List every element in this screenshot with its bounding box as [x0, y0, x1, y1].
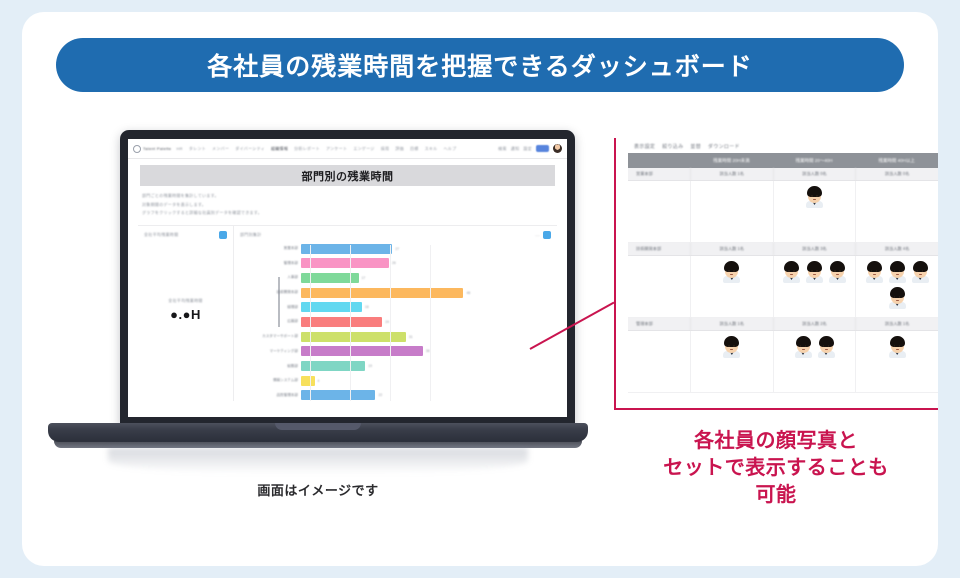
avatar-hair: [807, 186, 822, 197]
bar-category-label: 人事部: [246, 275, 298, 280]
bar-value-label: 18: [365, 305, 369, 309]
search-icon[interactable]: 検索: [498, 146, 507, 152]
detail-group-subheader: 営業本部該当人数 1名該当人数 0名該当人数 0名: [628, 168, 938, 181]
detail-groups: 営業本部該当人数 1名該当人数 0名該当人数 0名技術開発本部該当人数 1名該当…: [628, 168, 938, 393]
detail-group-subheader: 技術開発本部該当人数 1名該当人数 3名該当人数 4名: [628, 243, 938, 256]
group-label: 技術開発本部: [628, 243, 690, 255]
avatar-eye: [839, 270, 841, 272]
group-count-cell: 該当人数 0名: [855, 168, 938, 180]
avatar-mouth: [873, 274, 876, 275]
row-spacer-cell: [628, 331, 690, 392]
nav-item[interactable]: 分析レポート: [294, 146, 320, 152]
dashboard-title-bar: 部門別の残業時間: [140, 165, 555, 186]
metric-panel-title: 全社平均残業時間: [144, 232, 178, 238]
bar-category-label: 総務部: [246, 364, 298, 369]
bar-value-label: 22: [378, 393, 382, 397]
nav-item[interactable]: エンゲージ: [353, 146, 374, 152]
detail-table-row: [628, 181, 938, 243]
banner-title: 各社員の残業時間を把握できるダッシュボード: [207, 47, 753, 83]
row-spacer-cell: [628, 181, 690, 242]
bar-value-label: 24: [385, 320, 389, 324]
avatar-eye: [823, 345, 825, 347]
row-spacer-cell: [628, 256, 690, 317]
employee-avatar[interactable]: [817, 336, 836, 358]
laptop-lid: Talent Palette HR タレント メンバー ダイバーシティ 組織情報…: [120, 130, 575, 427]
metric-value: ●.●H: [138, 307, 233, 322]
employee-avatar[interactable]: [888, 287, 907, 309]
chart-menu-icon[interactable]: ···: [535, 233, 540, 238]
detail-panel: 表示設定 絞り込み 並替 ダウンロード 残業時間 20H未満 残業時間 20〜4…: [614, 138, 938, 410]
avatar-cell: [773, 331, 856, 392]
bar[interactable]: [301, 390, 375, 400]
nav-item-active[interactable]: 組織情報: [271, 146, 288, 152]
avatar-eye: [828, 345, 830, 347]
avatar-mouth: [896, 300, 899, 301]
bar-row: 広報部24: [246, 316, 551, 327]
avatar-hair: [819, 336, 834, 347]
right-caption: 各社員の顔写真と セットで表示することも 可能: [614, 428, 938, 509]
nav-item[interactable]: 評価: [395, 146, 404, 152]
logo-mark-icon: [133, 145, 141, 153]
page-title: 部門別の残業時間: [302, 168, 394, 184]
right-caption-line: 可能: [614, 482, 938, 509]
avatar-cell: [855, 331, 938, 392]
bar-row: 人事部17: [246, 272, 551, 283]
avatar-eye: [728, 270, 730, 272]
user-avatar[interactable]: [553, 144, 562, 153]
employee-avatar[interactable]: [888, 261, 907, 283]
avatar-eye: [733, 345, 735, 347]
avatar-eye: [834, 270, 836, 272]
toolbar-item[interactable]: 表示設定: [634, 143, 655, 150]
laptop-caption: 画面はイメージです: [48, 480, 588, 499]
column-header: 残業時間 20H未満: [690, 158, 773, 164]
metric-panel-header: 全社平均残業時間: [144, 231, 227, 239]
avatar-cell: [690, 331, 773, 392]
group-label: 営業本部: [628, 168, 690, 180]
nav-item[interactable]: 採用: [381, 146, 390, 152]
detail-panel-inner: 表示設定 絞り込み 並替 ダウンロード 残業時間 20H未満 残業時間 20〜4…: [628, 138, 938, 404]
bar-category-label: マーケティング部: [246, 349, 298, 354]
group-count-cell: 該当人数 3名: [773, 243, 856, 255]
laptop-mockup: Talent Palette HR タレント メンバー ダイバーシティ 組織情報…: [48, 130, 588, 480]
bar-row: カスタマーサポート部31: [246, 331, 551, 342]
avatar-hair: [890, 287, 905, 298]
group-count-cell: 該当人数 1名: [690, 318, 773, 330]
column-header: 残業時間 40H以上: [855, 158, 938, 164]
avatar-mouth: [896, 349, 899, 350]
chart-panel: 部門別集計 ··· 営業本部27管理本部26人事部17技術開発本部48経理部18…: [234, 226, 557, 401]
bar-row: 管理本部26: [246, 258, 551, 269]
employee-avatar[interactable]: [722, 261, 741, 283]
right-caption-line: セットで表示することも: [614, 455, 938, 482]
bar-row: 技術開発本部48: [246, 287, 551, 298]
bar-category-label: 営業本部: [246, 246, 298, 251]
panel-options-icon[interactable]: [219, 231, 227, 239]
bar-row: マーケティング部36: [246, 346, 551, 357]
employee-avatar[interactable]: [722, 336, 741, 358]
toolbar-item[interactable]: 絞り込み: [662, 143, 683, 150]
avatar-cell: [855, 256, 938, 317]
chart-options-icon[interactable]: [543, 231, 551, 239]
avatar-hair: [784, 261, 799, 272]
avatar-hair: [913, 261, 928, 272]
employee-avatar[interactable]: [865, 261, 884, 283]
nav-item[interactable]: アンケート: [326, 146, 347, 152]
bar-category-label: 管理本部: [246, 261, 298, 266]
description-line: 対象期間のデータを表示します。: [142, 202, 553, 208]
bar-row: 経理部18: [246, 302, 551, 313]
employee-avatar[interactable]: [888, 336, 907, 358]
metric-label: 全社平均残業時間: [138, 298, 233, 304]
employee-avatar[interactable]: [805, 261, 824, 283]
laptop-screen: Talent Palette HR タレント メンバー ダイバーシティ 組織情報…: [128, 139, 567, 417]
description-line: 部門ごとの残業時間を集計しています。: [142, 193, 553, 199]
bar-value-label: 19: [368, 364, 372, 368]
avatar-eye: [805, 345, 807, 347]
laptop-base: [48, 423, 588, 442]
app-logo[interactable]: Talent Palette: [133, 145, 171, 153]
description-line: グラフをクリックすると詳細な社員別データを確認できます。: [142, 210, 553, 216]
bar-value-label: 17: [362, 276, 366, 280]
bar[interactable]: [301, 258, 389, 268]
avatar-cell: [773, 181, 856, 242]
group-label: 管理本部: [628, 318, 690, 330]
bar-category-label: 経理部: [246, 305, 298, 310]
bell-icon[interactable]: 通知: [511, 146, 520, 152]
page-card: 各社員の残業時間を把握できるダッシュボード Talent Palette HR …: [22, 12, 938, 566]
nav-item[interactable]: HR: [176, 146, 182, 151]
detail-table-header: 残業時間 20H未満 残業時間 20〜40H 残業時間 40H以上: [628, 153, 938, 168]
bar[interactable]: [301, 317, 382, 327]
nav-item[interactable]: スキル: [425, 146, 438, 152]
bar-row: 情報システム部4: [246, 375, 551, 386]
avatar-cell: [690, 181, 773, 242]
bar-row: 営業本部27: [246, 243, 551, 254]
employee-avatar[interactable]: [782, 261, 801, 283]
bar-row: 品質管理本部22: [246, 390, 551, 401]
chart-gridline: [310, 245, 311, 401]
group-count-cell: 該当人数 1名: [690, 243, 773, 255]
bar-category-label: 技術開発本部: [246, 290, 298, 295]
detail-toolbar: 表示設定 絞り込み 並替 ダウンロード: [628, 138, 938, 153]
title-banner: 各社員の残業時間を把握できるダッシュボード: [56, 38, 904, 92]
overtime-bar-chart: 営業本部27管理本部26人事部17技術開発本部48経理部18広報部24カスタマー…: [240, 243, 551, 401]
bar[interactable]: [301, 244, 392, 254]
avatar-hair: [867, 261, 882, 272]
avatar-hair: [796, 336, 811, 347]
bar-category-label: カスタマーサポート部: [246, 334, 298, 339]
avatar-hair: [890, 261, 905, 272]
laptop-reflection: [108, 448, 528, 474]
nav-item[interactable]: ダイバーシティ: [235, 146, 265, 152]
avatar-eye: [788, 270, 790, 272]
avatar-hair: [830, 261, 845, 272]
bar-category-label: 情報システム部: [246, 378, 298, 383]
chart-panel-header: 部門別集計 ···: [240, 231, 551, 239]
avatar-hair: [890, 336, 905, 347]
employee-avatar[interactable]: [794, 336, 813, 358]
metric-block: 全社平均残業時間 ●.●H: [138, 298, 233, 322]
bar-value-label: 26: [392, 261, 396, 265]
nav-item[interactable]: 目標: [410, 146, 419, 152]
avatar-eye: [793, 270, 795, 272]
bar-value-label: 48: [466, 291, 470, 295]
avatar-cell: [690, 256, 773, 317]
bar-value-label: 27: [395, 247, 399, 251]
right-caption-line: 各社員の顔写真と: [614, 428, 938, 455]
employee-avatar[interactable]: [828, 261, 847, 283]
avatar-hair: [724, 261, 739, 272]
nav-item[interactable]: ヘルプ: [443, 146, 456, 152]
chart-gridline: [390, 245, 391, 401]
avatar-eye: [811, 270, 813, 272]
navbar-right: 検索 通知 設定: [498, 144, 562, 153]
group-count-cell: 該当人数 1名: [690, 168, 773, 180]
avatar-hair: [807, 261, 822, 272]
bar[interactable]: [301, 376, 315, 386]
toolbar-item[interactable]: ダウンロード: [708, 143, 740, 150]
logo-text: Talent Palette: [143, 146, 171, 151]
bar-category-label: 広報部: [246, 319, 298, 324]
avatar-hair: [724, 336, 739, 347]
laptop-notch: [275, 423, 361, 430]
chart-panel-title: 部門別集計: [240, 232, 262, 238]
column-header: 残業時間 20〜40H: [773, 158, 856, 164]
avatar-eye: [800, 345, 802, 347]
group-count-cell: 該当人数 0名: [773, 168, 856, 180]
metric-panel: 全社平均残業時間 全社平均残業時間 ●.●H: [138, 226, 234, 401]
nav-chip-button[interactable]: [536, 145, 549, 152]
bar-row: 総務部19: [246, 361, 551, 372]
bar-value-label: 31: [409, 335, 413, 339]
dashboard-navbar: Talent Palette HR タレント メンバー ダイバーシティ 組織情報…: [128, 139, 567, 159]
employee-avatar[interactable]: [911, 261, 930, 283]
dashboard-description: 部門ごとの残業時間を集計しています。 対象期間のデータを表示します。 グラフをク…: [142, 193, 553, 216]
group-count-cell: 該当人数 1名: [855, 318, 938, 330]
detail-table-row: [628, 256, 938, 318]
laptop-foot: [54, 441, 582, 448]
avatar-eye: [816, 270, 818, 272]
avatar-mouth: [802, 349, 805, 350]
dashboard-panels: 全社平均残業時間 全社平均残業時間 ●.●H 部門別集計 ···: [138, 225, 557, 401]
avatar-eye: [733, 270, 735, 272]
avatar-eye: [816, 195, 818, 197]
avatar-mouth: [919, 274, 922, 275]
avatar-eye: [811, 195, 813, 197]
avatar-cell: [773, 256, 856, 317]
avatar-mouth: [896, 274, 899, 275]
detail-table-row: [628, 331, 938, 393]
toolbar-item[interactable]: 並替: [690, 143, 701, 150]
chart-gridline: [350, 245, 351, 401]
group-count-cell: 該当人数 4名: [855, 243, 938, 255]
bar[interactable]: [301, 346, 423, 356]
nav-item[interactable]: タレント: [189, 146, 206, 152]
chart-gridline: [430, 245, 431, 401]
nav-item[interactable]: メンバー: [212, 146, 229, 152]
avatar-cell: [855, 181, 938, 242]
gear-icon[interactable]: 設定: [523, 146, 532, 152]
avatar-mouth: [825, 349, 828, 350]
bar[interactable]: [301, 288, 463, 298]
chart-panel-controls: ···: [535, 231, 551, 239]
bar-category-label: 品質管理本部: [246, 393, 298, 398]
group-count-cell: 該当人数 2名: [773, 318, 856, 330]
detail-group-subheader: 管理本部該当人数 1名該当人数 2名該当人数 1名: [628, 318, 938, 331]
bar-value-label: 4: [318, 379, 320, 383]
employee-avatar[interactable]: [805, 186, 824, 208]
navbar-items: HR タレント メンバー ダイバーシティ 組織情報 分析レポート アンケート エ…: [176, 146, 493, 152]
avatar-eye: [728, 345, 730, 347]
